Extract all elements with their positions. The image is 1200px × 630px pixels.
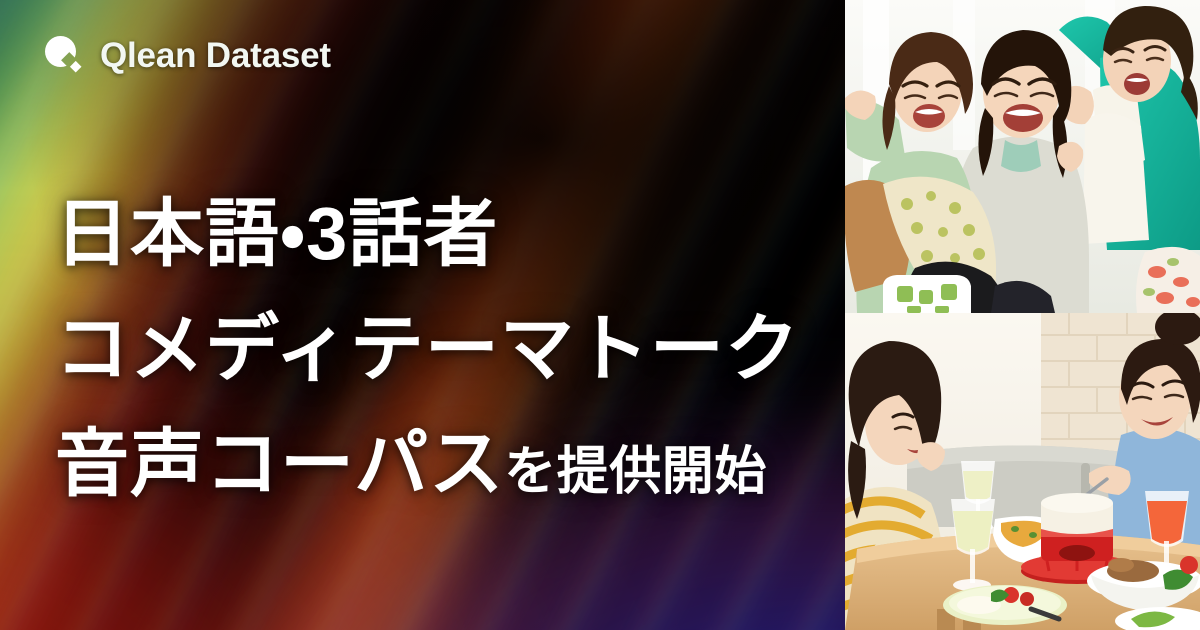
photo-three-women-laughing: 三人の女性がソファで笑っている — [845, 0, 1200, 313]
headline-line-3-suffix: を提供開始 — [504, 443, 767, 501]
ogp-banner: Qlean Dataset 日本語・3話者 コメディテーマトーク 音声コーパスを… — [0, 0, 1200, 630]
photo-column: 三人の女性がソファで笑っている — [845, 0, 1200, 630]
headline-line-3: 音声コーパスを提供開始 — [55, 406, 825, 530]
photo-two-women-dining: 二人の女性がテーブルでフォンデュを囲んでいる — [845, 313, 1200, 630]
headline-line-1: 日本語・3話者 — [55, 176, 825, 291]
brand-logo[interactable]: Qlean Dataset — [42, 33, 331, 77]
headline-block: 日本語・3話者 コメディテーマトーク 音声コーパスを提供開始 — [55, 176, 825, 530]
brand-logo-text: Qlean Dataset — [100, 38, 331, 73]
headline-line-2: コメディテーマトーク — [55, 291, 825, 406]
qlean-circle-mark — [42, 33, 86, 77]
headline-line-3-main: 音声コーパス — [55, 422, 504, 505]
